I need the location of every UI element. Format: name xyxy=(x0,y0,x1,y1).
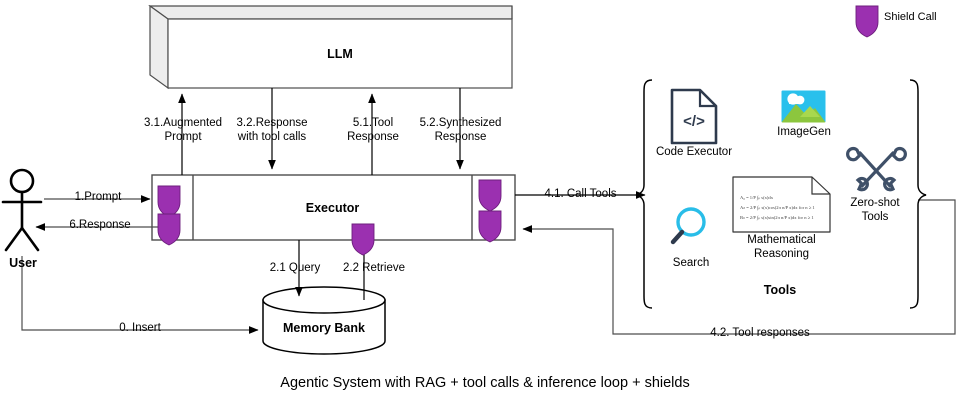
formula-document-icon: A₀ = 1/P ∫ₚ s(x)dx Aₙ = 2/P ∫ₚ s(x)cos(2… xyxy=(733,177,830,232)
tools-brace-left xyxy=(636,80,652,308)
executor-label: Executor xyxy=(193,201,472,215)
code-document-icon: </> xyxy=(672,90,716,143)
user-label: User xyxy=(0,256,46,270)
flow-label-augmented: 3.1.Augmented Prompt xyxy=(133,117,233,144)
flow-label-insert: 0. Insert xyxy=(80,322,200,336)
tool-label-search: Search xyxy=(653,257,729,271)
flow-label-response-tool-calls: 3.2.Response with tool calls xyxy=(222,117,322,144)
flow-label-retrieve: 2.2 Retrieve xyxy=(333,262,415,276)
tools-brace-right xyxy=(910,80,926,308)
flow-label-query: 2.1 Query xyxy=(255,262,335,276)
magnifier-icon xyxy=(673,209,704,242)
diagram-caption: Agentic System with RAG + tool calls & i… xyxy=(0,375,970,391)
crossed-wrenches-icon xyxy=(848,149,906,190)
flow-label-tool-response: 5.1.Tool Response xyxy=(332,117,414,144)
tool-label-imagegen: ImageGen xyxy=(763,126,845,140)
diagram-vector-layer: </> A₀ = 1/P ∫ₚ s(x)dx Aₙ = 2/P ∫ₚ s(x)c… xyxy=(0,0,970,411)
flow-label-synthesized: 5.2.Synthesized Response xyxy=(408,117,513,144)
shield-icon-legend xyxy=(856,6,878,37)
llm-label: LLM xyxy=(168,47,512,61)
svg-text:</>: </> xyxy=(683,113,705,130)
diagram-canvas: </> A₀ = 1/P ∫ₚ s(x)dx Aₙ = 2/P ∫ₚ s(x)c… xyxy=(0,0,970,411)
tool-label-code-executor: Code Executor xyxy=(646,146,742,160)
flow-label-call-tools: 4.1. Call Tools xyxy=(528,188,633,202)
flow-label-prompt: 1.Prompt xyxy=(48,191,148,205)
memory-bank-label: Memory Bank xyxy=(263,321,385,335)
user-actor-icon xyxy=(3,170,41,250)
tools-group-label: Tools xyxy=(720,283,840,297)
tool-label-zero-shot: Zero-shot Tools xyxy=(833,197,917,224)
flow-label-tool-responses: 4.2. Tool responses xyxy=(670,327,850,341)
tool-label-math-reasoning: Mathematical Reasoning xyxy=(729,234,834,261)
image-icon xyxy=(781,90,826,123)
flow-label-response: 6.Response xyxy=(50,219,150,233)
shield-icon-memory xyxy=(352,224,374,255)
legend-shield-label: Shield Call xyxy=(884,11,937,23)
